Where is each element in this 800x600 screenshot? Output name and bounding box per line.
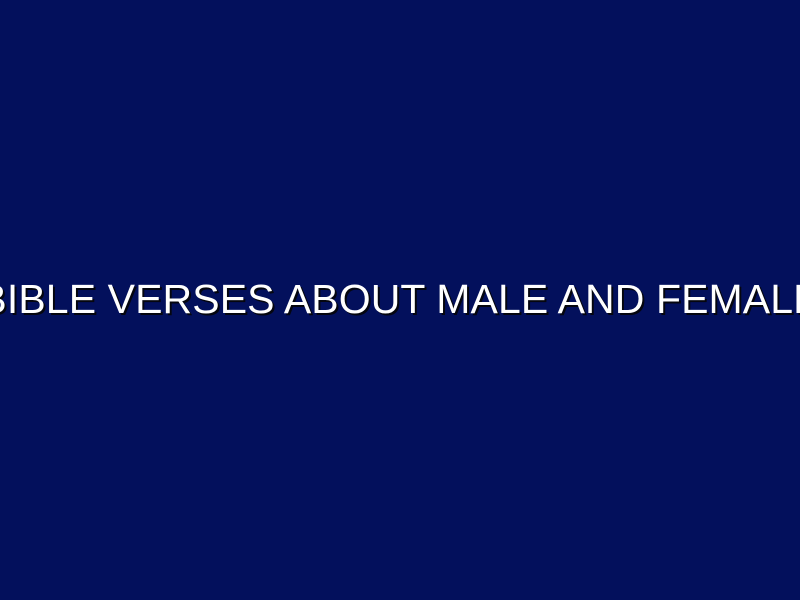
- headline-band: BIBLE VERSES ABOUT MALE AND FEMALE: [0, 278, 800, 321]
- page-title: BIBLE VERSES ABOUT MALE AND FEMALE: [0, 278, 800, 321]
- title-banner: BIBLE VERSES ABOUT MALE AND FEMALE: [0, 0, 800, 600]
